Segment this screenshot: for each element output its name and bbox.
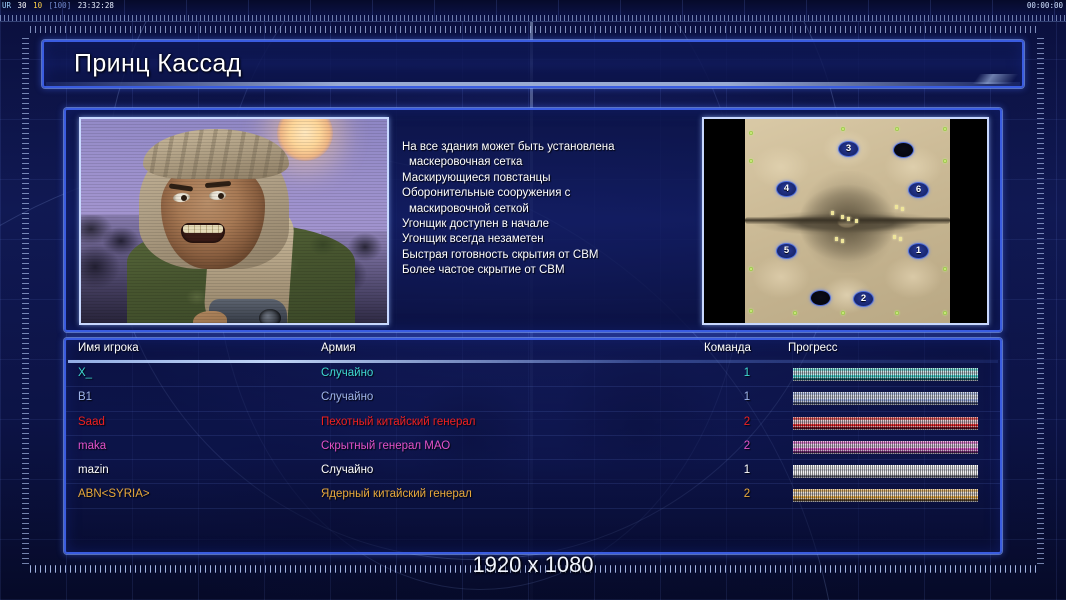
top-status-bar: UR 30 10 [100] 23:32:28 00:00:00 [0,0,1066,22]
status-prefix: UR [2,1,11,10]
status-value-1: 30 [18,1,27,10]
game-lobby-screen: UR 30 10 [100] 23:32:28 00:00:00 Принц К… [0,0,1066,600]
topbar-tick-ruler [0,15,1066,21]
frame-ruler-right [1037,34,1044,564]
screen-frame [22,26,1044,572]
status-readout: UR 30 10 [100] 23:32:28 [2,1,116,10]
resolution-label: 1920 x 1080 [0,552,1066,578]
frame-ruler-top [30,26,1036,33]
status-timestamp: 23:32:28 [78,1,114,10]
status-value-2: 10 [33,1,42,10]
status-bracket: [100] [49,1,72,10]
game-clock: 00:00:00 [1027,1,1063,10]
frame-ruler-left [22,34,29,564]
